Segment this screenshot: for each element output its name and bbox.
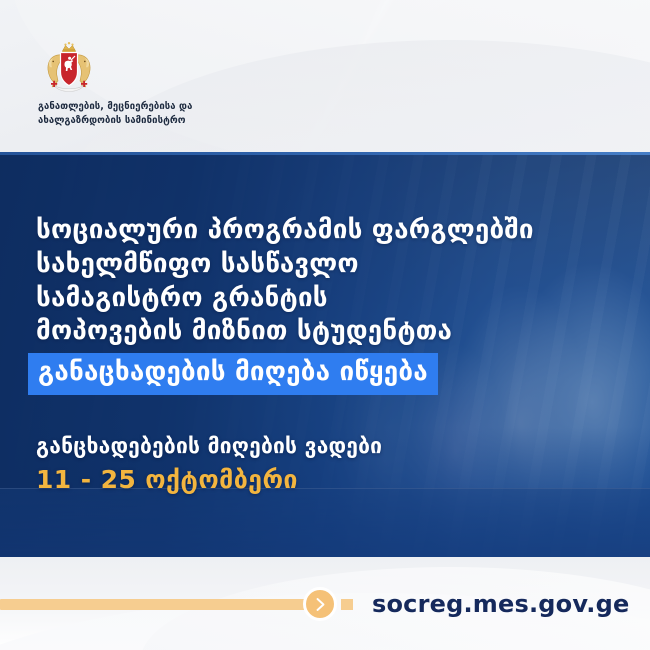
footer-gold-square [341,599,353,610]
headline-emphasis-line: განაცხადების მიღება იწყება [28,353,438,395]
ministry-name: განათლების, მეცნიერებისა და ახალგაზრდობი… [38,100,358,128]
georgia-coat-of-arms-icon [40,40,98,94]
deadline-block: განცხადებების მიღების ვადები 11 - 25 ოქტ… [36,434,382,494]
hero-top-divider [0,152,650,155]
chevron-right-icon [303,587,337,621]
headline-line-2: სახელმწიფო სასწავლო [36,248,596,282]
site-url[interactable]: socreg.mes.gov.ge [372,590,629,618]
deadline-dates: 11 - 25 ოქტომბერი [36,465,382,494]
footer-gold-bar [0,599,305,610]
deadline-label: განცხადებების მიღების ვადები [36,434,382,458]
footer-url-row: socreg.mes.gov.ge [0,587,650,621]
headline-line-1: სოციალური პროგრამის ფარგლებში [36,214,596,248]
poster-footer: socreg.mes.gov.ge [0,557,650,650]
headline-block: სოციალური პროგრამის ფარგლებში სახელმწიფო… [36,214,596,395]
poster-root: განათლების, მეცნიერებისა და ახალგაზრდობი… [0,0,650,650]
headline-line-3: სამაგისტრო გრანტის [36,282,596,316]
hero-panel: სოციალური პროგრამის ფარგლებში სახელმწიფო… [0,152,650,557]
poster-header: განათლების, მეცნიერებისა და ახალგაზრდობი… [0,0,650,152]
brand-block: განათლების, მეცნიერებისა და ახალგაზრდობი… [38,40,358,128]
headline-line-4: მოპოვების მიზნით სტუდენტთა [36,315,596,349]
hero-bottom-band [0,488,650,557]
